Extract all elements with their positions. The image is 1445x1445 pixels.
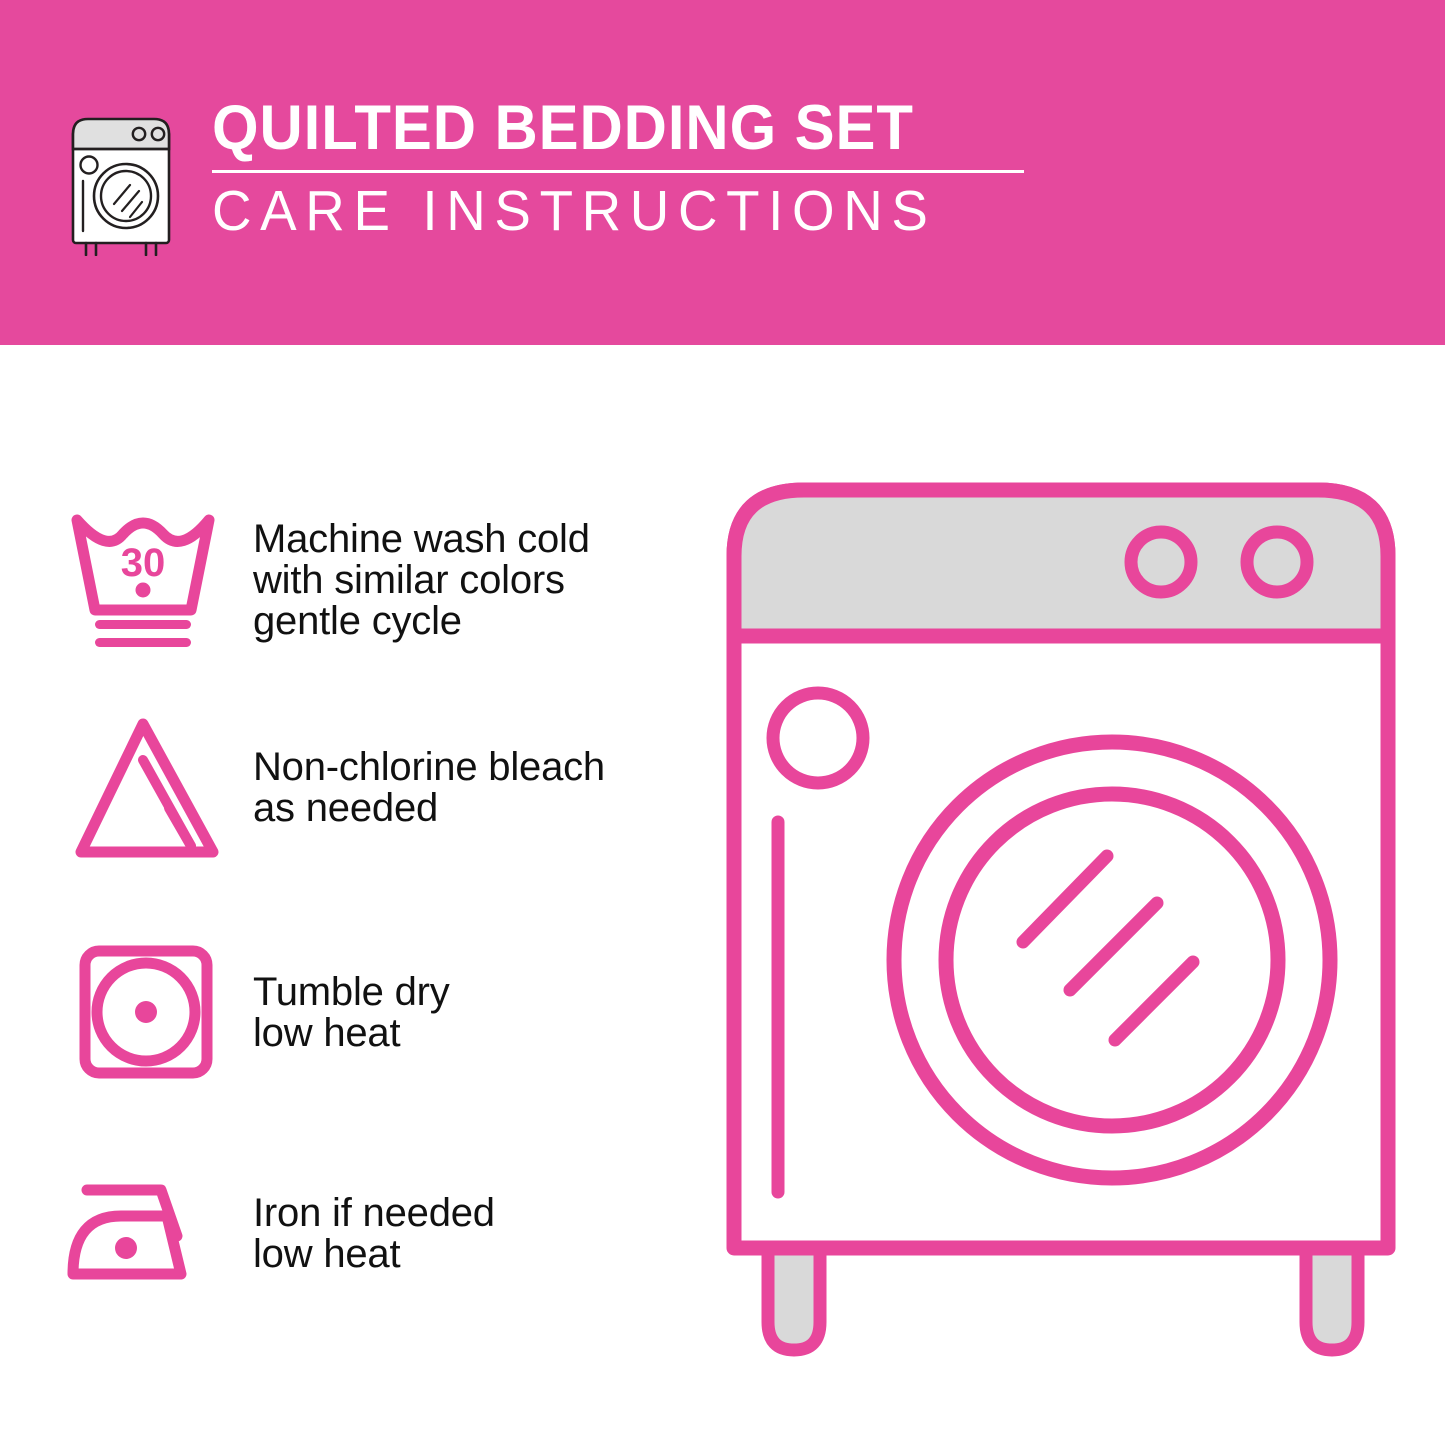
care-text-line: as needed bbox=[253, 788, 680, 829]
care-text-tumble-dry: Tumble dry low heat bbox=[235, 930, 680, 1054]
care-text-line: Tumble dry bbox=[253, 972, 680, 1013]
wash-tub-30-icon: 30 bbox=[60, 495, 235, 660]
care-text-line: low heat bbox=[253, 1013, 680, 1054]
leg-left bbox=[768, 1240, 820, 1350]
care-text-line: Non-chlorine bleach bbox=[253, 747, 680, 788]
header-band: QUILTED BEDDING SET CARE INSTRUCTIONS bbox=[0, 0, 1445, 345]
care-text-wash: Machine wash cold with similar colors ge… bbox=[235, 495, 680, 642]
wash-temperature-label: 30 bbox=[120, 541, 165, 585]
care-instruction-list: 30 Machine wash cold with similar colors… bbox=[0, 345, 700, 1445]
care-row-tumble-dry: Tumble dry low heat bbox=[60, 930, 680, 1095]
care-text-line: Machine wash cold bbox=[253, 519, 680, 560]
care-text-line: with similar colors bbox=[253, 560, 680, 601]
iron-low-heat-icon bbox=[60, 1145, 235, 1310]
care-instructions-infographic: QUILTED BEDDING SET CARE INSTRUCTIONS 30… bbox=[0, 0, 1445, 1445]
door-inner-ring bbox=[946, 794, 1278, 1126]
page-subtitle: CARE INSTRUCTIONS bbox=[212, 181, 990, 241]
care-row-iron: Iron if needed low heat bbox=[60, 1145, 680, 1310]
care-row-bleach: Non-chlorine bleach as needed bbox=[60, 705, 680, 870]
care-text-bleach: Non-chlorine bleach as needed bbox=[235, 705, 680, 829]
large-washing-machine-illustration bbox=[720, 470, 1400, 1370]
care-text-line: gentle cycle bbox=[253, 601, 680, 642]
header-divider bbox=[212, 170, 1024, 173]
tumble-dry-dot bbox=[135, 1001, 157, 1023]
care-text-iron: Iron if needed low heat bbox=[235, 1145, 680, 1275]
care-text-line: low heat bbox=[253, 1234, 680, 1275]
header-content: QUILTED BEDDING SET CARE INSTRUCTIONS bbox=[60, 95, 1020, 260]
wash-dot bbox=[135, 582, 150, 597]
care-row-wash: 30 Machine wash cold with similar colors… bbox=[60, 495, 680, 660]
iron-dot bbox=[115, 1237, 137, 1259]
knob-right bbox=[1247, 532, 1307, 592]
detergent-circle bbox=[773, 693, 863, 783]
page-title: QUILTED BEDDING SET bbox=[212, 95, 982, 161]
header-text-block: QUILTED BEDDING SET CARE INSTRUCTIONS bbox=[212, 95, 1022, 241]
tumble-dry-low-icon bbox=[60, 930, 235, 1095]
knob-left bbox=[1131, 532, 1191, 592]
non-chlorine-bleach-triangle-icon bbox=[60, 705, 235, 870]
care-text-line: Iron if needed bbox=[253, 1193, 680, 1234]
washing-machine-icon bbox=[60, 101, 195, 256]
leg-right bbox=[1306, 1240, 1358, 1350]
